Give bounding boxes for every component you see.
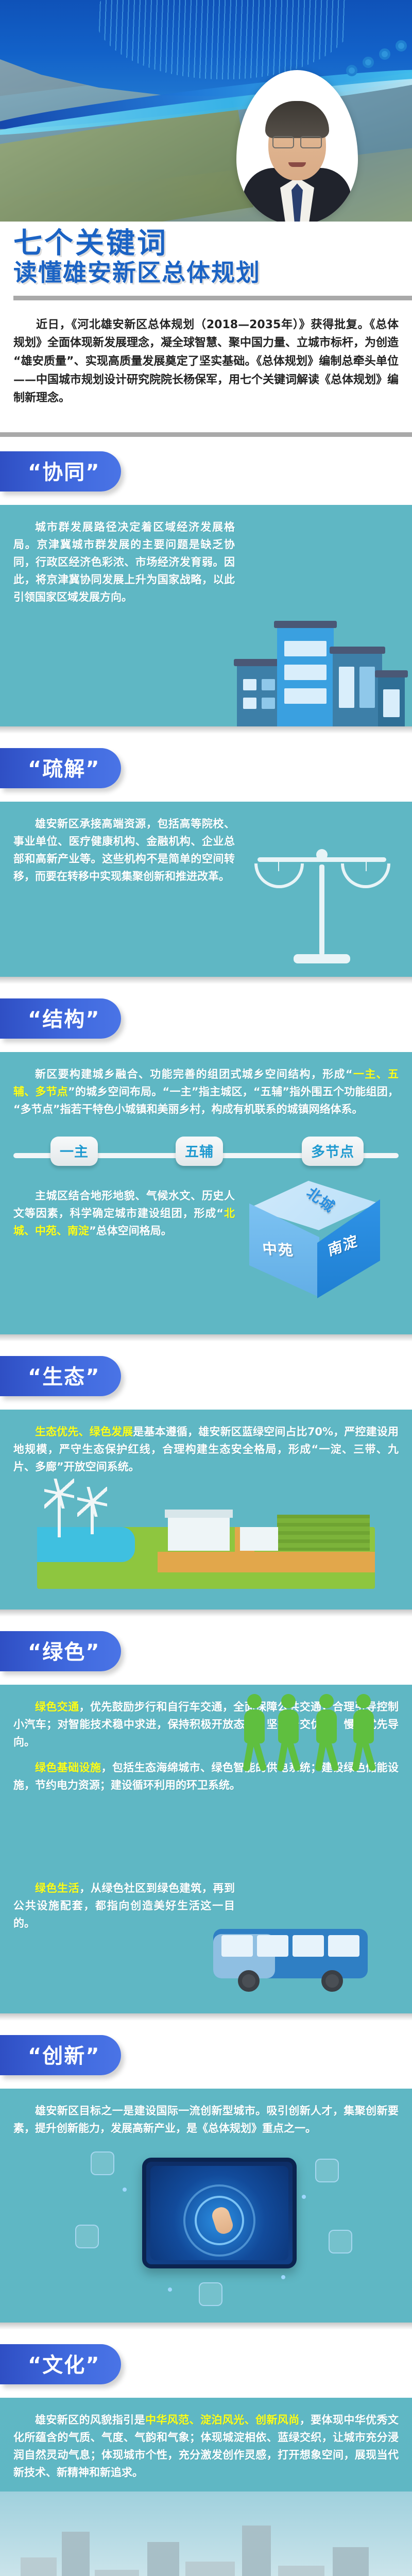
chip-yizhu: 一主 xyxy=(50,1137,98,1166)
panel-chuangxin: 雄安新区目标之一是建设国际一流创新型城市。吸引创新人才，集聚创新要素，提升创新能… xyxy=(0,2089,412,2323)
panel-jiegou: 新区要构建城乡融合、功能完善的组团式城乡空间结构，形成“一主、五辅、多节点”的城… xyxy=(0,1052,412,1334)
section-tag-jiegou: “结构” xyxy=(0,998,121,1039)
tag-row: “结构” xyxy=(0,984,412,1052)
tag-row: “绿色” xyxy=(0,1617,412,1685)
body-text-2: 主城区结合地形地貌、气候水文、历史人文等因素，科学确定城市建设组团，形成“北城、… xyxy=(13,1180,235,1240)
wind-turbine-icon xyxy=(58,1492,61,1537)
intro-block: 近日，《河北雄安新区总体规划（2018—2035年）》获得批复。《总体规划》全面… xyxy=(0,302,412,423)
section-tag-xietong: “协同” xyxy=(0,451,121,492)
section-lvse: “绿色” 绿色交通，优先鼓励步行和自行车交通，全面保障公共交通，合理引导控制小汽… xyxy=(0,1617,412,2021)
circle-dots-decoration xyxy=(336,40,408,76)
infographic-page: 七个关键词 读懂雄安新区总体规划 近日，《河北雄安新区总体规划（2018—203… xyxy=(0,0,412,2576)
building-icon xyxy=(168,1518,230,1551)
body-text: 生态优先、绿色发展是基本遵循，雄安新区蓝绿空间占比70%，严控建设用地规模，严守… xyxy=(13,1423,399,1476)
tech-node-icon xyxy=(315,2159,339,2182)
tag-row: “协同” xyxy=(0,437,412,505)
panel-shadow xyxy=(0,977,412,984)
wind-turbine-icon xyxy=(91,1500,94,1534)
body-text: 城市群发展路径决定着区域经济发展格局。京津冀城市群发展的主要问题是缺乏协同，行政… xyxy=(13,518,235,606)
hero-banner xyxy=(0,0,412,222)
section-jiegou: “结构” 新区要构建城乡融合、功能完善的组团式城乡空间结构，形成“一主、五辅、多… xyxy=(0,984,412,1342)
highlight-text: 绿色基础设施 xyxy=(35,1761,101,1774)
panel-wenhua: 雄安新区的风貌指引是中华风范、淀泊风光、创新风尚，要体现中华优秀文化所蕴含的气质… xyxy=(0,2398,412,2576)
title-line-2: 读懂雄安新区总体规划 xyxy=(13,259,412,286)
section-tag-wenhua: “文化” xyxy=(0,2344,121,2384)
body-text-3: 绿色生活，从绿色社区到绿色建筑，再到公共设施配套，都指向创造美好生活这一目的。 xyxy=(13,1879,235,1932)
body-text: 雄安新区目标之一是建设国际一流创新型城市。吸引创新人才，集聚创新要素，提升创新能… xyxy=(13,2102,399,2137)
section-tag-shujie: “疏解” xyxy=(0,748,121,788)
section-chuangxin: “创新” 雄安新区目标之一是建设国际一流创新型城市。吸引创新人才，集聚创新要素，… xyxy=(0,2021,412,2330)
tech-node-icon xyxy=(91,2151,114,2175)
tech-node-icon xyxy=(75,2225,99,2248)
body-text-1: 新区要构建城乡融合、功能完善的组团式城乡空间结构，形成“一主、五辅、多节点”的城… xyxy=(13,1065,399,1118)
chip-wufu: 五辅 xyxy=(176,1137,223,1166)
innovation-illustration-icon xyxy=(13,2137,399,2307)
tag-row: “文化” xyxy=(0,2330,412,2398)
panel-xietong: 城市群发展路径决定着区域经济发展格局。京津冀城市群发展的主要问题是缺乏协同，行政… xyxy=(0,505,412,726)
tag-row: “疏解” xyxy=(0,734,412,802)
page-title: 七个关键词 读懂雄安新区总体规划 xyxy=(0,222,412,302)
highlight-text: 中华风范、淀泊风光、创新风尚 xyxy=(145,2414,300,2426)
structure-chip-rail: 一主 五辅 多节点 xyxy=(13,1129,399,1177)
city-skyline-illustration-icon xyxy=(0,2492,412,2576)
highlight-text: 生态优先、绿色发展 xyxy=(35,1426,133,1438)
section-shengtai: “生态” 生态优先、绿色发展是基本遵循，雄安新区蓝绿空间占比70%，严控建设用地… xyxy=(0,1342,412,1617)
panel-shujie: 雄安新区承接高端资源，包括高等院校、事业单位、医疗健康机构、金融机构、企业总部和… xyxy=(0,802,412,977)
divider-gray xyxy=(13,296,412,300)
pedestrians-illustration-icon xyxy=(236,1685,390,1771)
divider-gray-2 xyxy=(0,432,412,437)
highlight-text: 绿色生活 xyxy=(35,1882,79,1894)
smartphone-icon xyxy=(142,2158,297,2268)
section-tag-chuangxin: “创新” xyxy=(0,2035,121,2075)
body-text: 雄安新区承接高端资源，包括高等院校、事业单位、医疗健康机构、金融机构、企业总部和… xyxy=(13,815,235,885)
section-wenhua: “文化” 雄安新区的风貌指引是中华风范、淀泊风光、创新风尚，要体现中华优秀文化所… xyxy=(0,2330,412,2576)
section-xietong: “协同” 城市群发展路径决定着区域经济发展格局。京津冀城市群发展的主要问题是缺乏… xyxy=(0,437,412,734)
tag-row: “创新” xyxy=(0,2021,412,2089)
highlight-text: 绿色交通 xyxy=(35,1701,79,1713)
panel-shengtai: 生态优先、绿色发展是基本遵循，雄安新区蓝绿空间占比70%，严控建设用地规模，严守… xyxy=(0,1410,412,1609)
panel-lvse: 绿色交通，优先鼓励步行和自行车交通，全面保障公共交通，合理引导控制小汽车；对智能… xyxy=(0,1685,412,2013)
panel-shadow xyxy=(0,2013,412,2021)
panel-shadow xyxy=(0,1334,412,1342)
buildings-illustration-icon xyxy=(237,598,407,726)
chip-duojiedian: 多节点 xyxy=(302,1137,364,1166)
cube-diagram-icon: 北城 中苑 南淀 xyxy=(249,1181,388,1310)
tech-node-icon xyxy=(329,2230,352,2253)
section-tag-lvse: “绿色” xyxy=(0,1631,121,1671)
section-shujie: “疏解” 雄安新区承接高端资源，包括高等院校、事业单位、医疗健康机构、金融机构、… xyxy=(0,734,412,984)
panel-shadow xyxy=(0,726,412,734)
tag-row: “生态” xyxy=(0,1342,412,1410)
eco-landscape-illustration-icon xyxy=(13,1486,399,1594)
bus-illustration-icon xyxy=(213,1905,383,1993)
panel-shadow xyxy=(0,2323,412,2330)
section-tag-shengtai: “生态” xyxy=(0,1356,121,1396)
balance-scales-icon xyxy=(250,840,394,969)
cube-label-zhongyuan: 中苑 xyxy=(262,1238,295,1260)
building-icon xyxy=(240,1527,278,1551)
tech-node-icon xyxy=(199,2282,222,2306)
panel-shadow xyxy=(0,1609,412,1617)
body-text: 雄安新区的风貌指引是中华风范、淀泊风光、创新风尚，要体现中华优秀文化所蕴含的气质… xyxy=(13,2411,399,2481)
title-line-1: 七个关键词 xyxy=(13,229,412,259)
intro-paragraph: 近日，《河北雄安新区总体规划（2018—2035年）》获得批复。《总体规划》全面… xyxy=(13,316,399,408)
glasses-icon xyxy=(272,136,322,147)
